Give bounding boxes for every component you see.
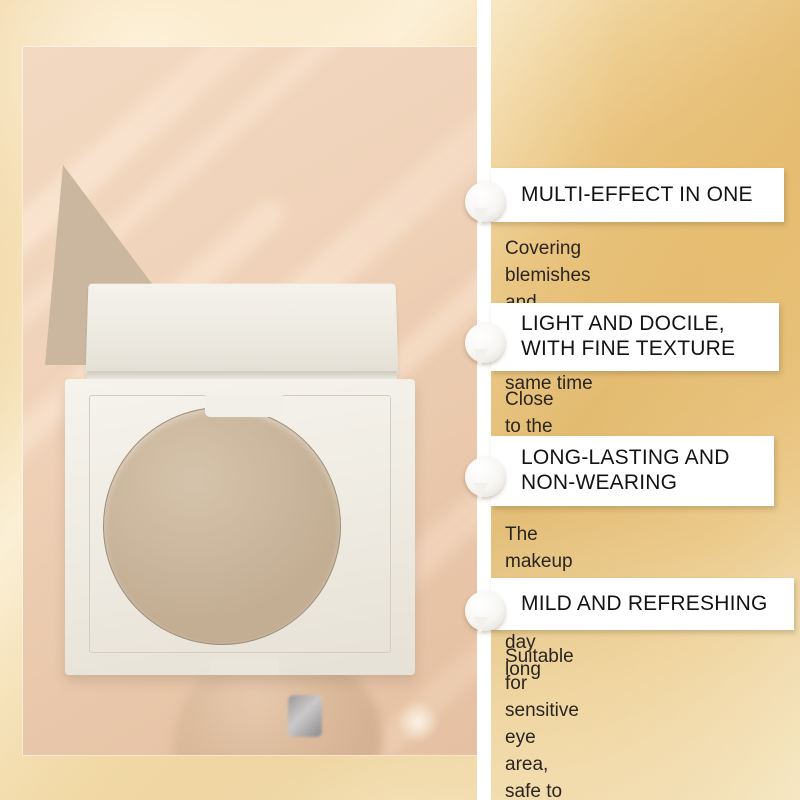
feature-headline: MILD AND REFRESHING <box>521 592 768 617</box>
feature-list: MULTI-EFFECT IN ONE Covering blemishes a… <box>0 0 800 800</box>
feature-subtext: Suitable for sensitive eye area, safe to… <box>505 644 579 800</box>
bullet-pin-icon <box>465 591 505 631</box>
feature-headline-bar: LIGHT AND DOCILE, WITH FINE TEXTURE <box>491 303 779 371</box>
feature-headline-bar: LONG-LASTING AND NON-WEARING <box>491 436 774 506</box>
vertical-white-divider <box>477 0 491 800</box>
bullet-pin-icon <box>465 457 505 497</box>
feature-headline: MULTI-EFFECT IN ONE <box>521 183 753 208</box>
feature-headline-bar: MILD AND REFRESHING <box>491 578 794 630</box>
bullet-pin-icon <box>465 323 505 363</box>
bullet-pin-icon <box>465 182 505 222</box>
product-feature-poster: MULTI-EFFECT IN ONE Covering blemishes a… <box>0 0 800 800</box>
feature-headline-bar: MULTI-EFFECT IN ONE <box>491 168 784 222</box>
feature-headline: LIGHT AND DOCILE, WITH FINE TEXTURE <box>521 312 735 362</box>
feature-headline: LONG-LASTING AND NON-WEARING <box>521 446 730 496</box>
